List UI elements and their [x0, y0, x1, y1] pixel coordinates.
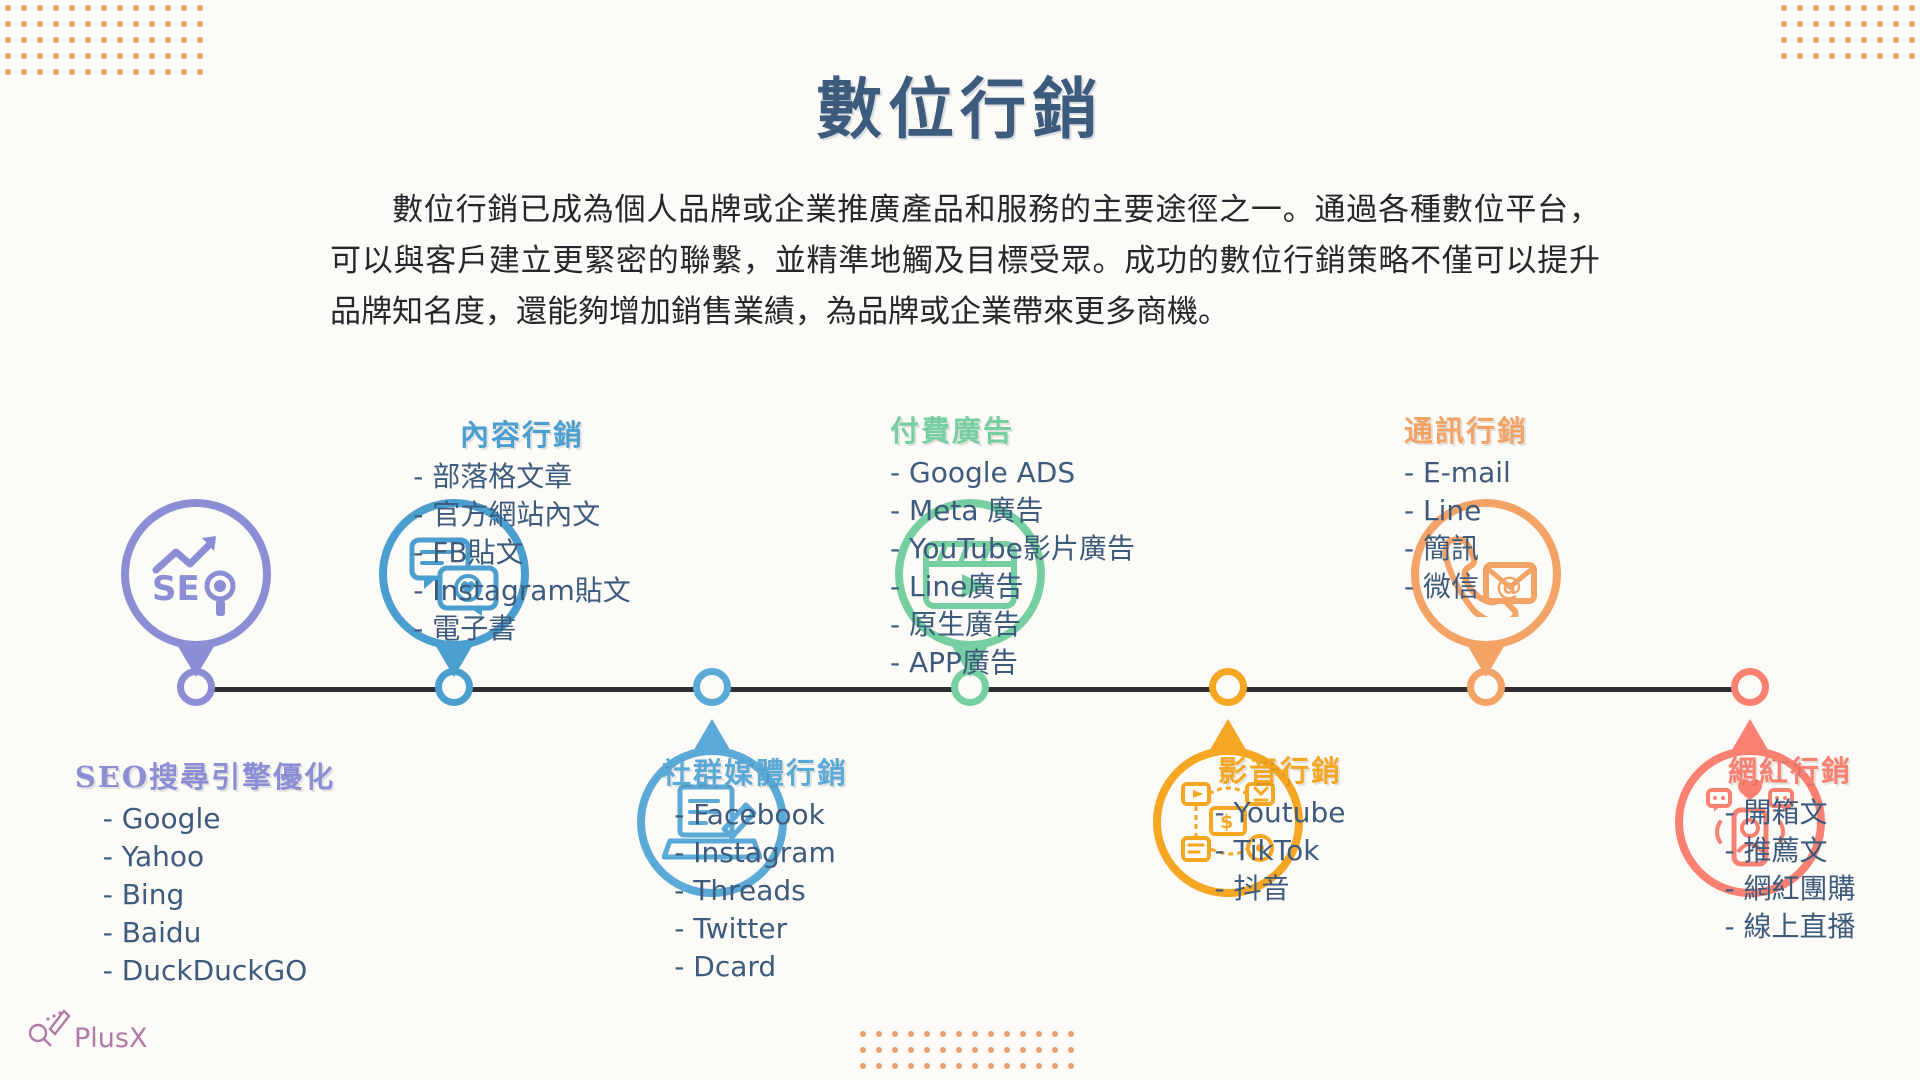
list-item: - Threads — [674, 872, 835, 910]
section-list-influencer: - 開箱文- 推薦文- 網紅團購- 線上直播 — [1724, 794, 1855, 946]
list-item: - Dcard — [674, 948, 835, 986]
intro-paragraph: 數位行銷已成為個人品牌或企業推廣產品和服務的主要途徑之一。通過各種數位平台，可以… — [330, 185, 1600, 338]
brand-logo: PlusX — [26, 1003, 147, 1054]
page-title: 數位行銷 — [0, 56, 1920, 152]
list-item: - 簡訊 — [1404, 530, 1684, 568]
timeline-node-social[interactable] — [693, 668, 731, 706]
section-list-video: - Youtube- TikTok- 抖音 — [1215, 794, 1346, 908]
list-item: - 開箱文 — [1724, 794, 1855, 832]
list-item: - 抖音 — [1215, 870, 1346, 908]
list-item: - Yahoo — [103, 838, 308, 876]
list-item: - 微信 — [1404, 568, 1684, 606]
section-video: 影音行銷- Youtube- TikTok- 抖音 — [1140, 748, 1420, 908]
list-item: - 電子書 — [413, 610, 630, 648]
section-heading-social: 社群媒體行銷 — [605, 750, 905, 792]
section-messaging: 通訊行銷- E-mail- Line- 簡訊- 微信 — [1404, 408, 1684, 606]
section-heading-paid-ads: 付費廣告 — [890, 408, 1200, 450]
section-heading-messaging: 通訊行銷 — [1404, 408, 1684, 450]
section-social: 社群媒體行銷- Facebook- Instagram- Threads- Tw… — [605, 750, 905, 986]
section-list-paid-ads: - Google ADS- Meta 廣告- YouTube影片廣告- Line… — [890, 454, 1200, 682]
list-item: - APP廣告 — [890, 644, 1200, 682]
list-item: - TikTok — [1215, 832, 1346, 870]
list-item: - Line廣告 — [890, 568, 1200, 606]
list-item: - Youtube — [1215, 794, 1346, 832]
list-item: - Google — [103, 800, 308, 838]
section-seo: SEO搜尋引擎優化- Google- Yahoo- Bing- Baidu- D… — [55, 754, 355, 990]
section-content: 內容行銷- 部落格文章- 官方網站內文- FB貼文- Instagram貼文- … — [372, 412, 672, 648]
list-item: - DuckDuckGO — [103, 952, 308, 990]
list-item: - 官方網站內文 — [413, 496, 630, 534]
marker-seo[interactable]: SE — [121, 499, 271, 677]
logo-text: PlusX — [74, 1023, 147, 1054]
section-list-seo: - Google- Yahoo- Bing- Baidu- DuckDuckGO — [103, 800, 308, 990]
section-paid-ads: 付費廣告- Google ADS- Meta 廣告- YouTube影片廣告- … — [890, 408, 1200, 682]
section-list-content: - 部落格文章- 官方網站內文- FB貼文- Instagram貼文- 電子書 — [413, 458, 630, 648]
list-item: - Line — [1404, 492, 1684, 530]
section-heading-video: 影音行銷 — [1140, 748, 1420, 790]
list-item: - 部落格文章 — [413, 458, 630, 496]
list-item: - Google ADS — [890, 454, 1200, 492]
section-heading-influencer: 網紅行銷 — [1650, 748, 1920, 790]
magnifier-pencil-icon — [26, 1003, 72, 1054]
list-item: - Baidu — [103, 914, 308, 952]
list-item: - YouTube影片廣告 — [890, 530, 1200, 568]
timeline-node-influencer[interactable] — [1731, 668, 1769, 706]
list-item: - Instagram — [674, 834, 835, 872]
list-item: - 原生廣告 — [890, 606, 1200, 644]
list-item: - Facebook — [674, 796, 835, 834]
list-item: - Instagram貼文 — [413, 572, 630, 610]
section-list-social: - Facebook- Instagram- Threads- Twitter-… — [674, 796, 835, 986]
list-item: - Meta 廣告 — [890, 492, 1200, 530]
list-item: - 推薦文 — [1724, 832, 1855, 870]
list-item: - 網紅團購 — [1724, 870, 1855, 908]
list-item: - 線上直播 — [1724, 908, 1855, 946]
seo-chart-icon: SE — [121, 499, 271, 649]
timeline-node-video[interactable] — [1209, 668, 1247, 706]
section-influencer: 網紅行銷- 開箱文- 推薦文- 網紅團購- 線上直播 — [1650, 748, 1920, 946]
decor-dots-bottom-center — [855, 1026, 1079, 1074]
section-list-messaging: - E-mail- Line- 簡訊- 微信 — [1404, 454, 1684, 606]
section-heading-seo: SEO搜尋引擎優化 — [55, 754, 355, 796]
decor-dots-top-right — [1776, 0, 1920, 64]
list-item: - FB貼文 — [413, 534, 630, 572]
list-item: - Twitter — [674, 910, 835, 948]
svg-text:SE: SE — [152, 569, 200, 609]
section-heading-content: 內容行銷 — [372, 412, 672, 454]
list-item: - Bing — [103, 876, 308, 914]
list-item: - E-mail — [1404, 454, 1684, 492]
